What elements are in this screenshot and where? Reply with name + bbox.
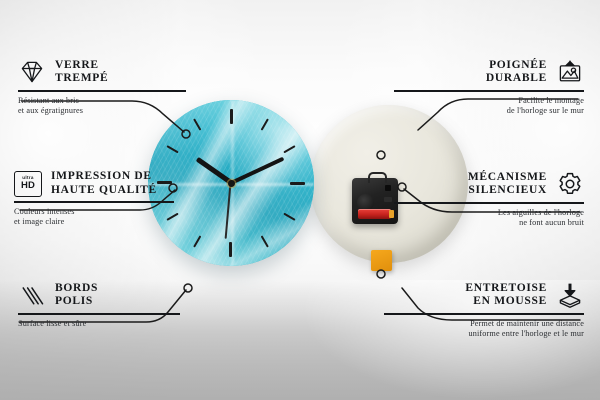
feature-header: POIGNÉE DURABLE [394, 58, 584, 86]
feature-entretoise-en-mousse[interactable]: ENTRETOISE EN MOUSSE Permet de maintenir… [374, 281, 584, 340]
feature-rule [14, 201, 174, 203]
feature-rule [394, 90, 584, 92]
feature-title: IMPRESSION DE HAUTE QUALITÉ [51, 170, 157, 197]
feature-title: BORDS POLIS [55, 282, 98, 309]
feature-rule [384, 313, 584, 315]
gear-icon [556, 170, 584, 198]
diamond-icon [18, 58, 46, 86]
feature-mecanisme-silencieux[interactable]: MÉCANISME SILENCIEUX Les aiguilles de l'… [394, 170, 584, 229]
feature-title: VERRE TREMPÉ [55, 59, 108, 86]
picture-hanger-icon [556, 58, 584, 86]
feature-title: POIGNÉE DURABLE [486, 59, 547, 86]
ultra-hd-icon: ultra HD [14, 171, 42, 197]
feature-rule [394, 202, 584, 204]
feature-header: MÉCANISME SILENCIEUX [394, 170, 584, 198]
leader-dot-poignee [377, 151, 385, 159]
foam-spacer-icon [556, 281, 584, 309]
leader-dot-verre-trempe [182, 130, 190, 138]
feature-rule [18, 90, 186, 92]
feature-verre-trempe[interactable]: VERRE TREMPÉ Résistant aux bris et aux é… [18, 58, 208, 117]
feature-header: BORDS POLIS [18, 281, 208, 309]
feature-poignee-durable[interactable]: POIGNÉE DURABLE Facilite le montage de l… [394, 58, 584, 117]
feature-header: VERRE TREMPÉ [18, 58, 208, 86]
feature-bords-polis[interactable]: BORDS POLIS Surface lisse et sûre [18, 281, 208, 329]
feature-title: ENTRETOISE EN MOUSSE [465, 282, 547, 309]
feature-title: MÉCANISME SILENCIEUX [468, 171, 547, 198]
feature-impression-haute-qualite[interactable]: ultra HD IMPRESSION DE HAUTE QUALITÉ Cou… [14, 170, 214, 228]
feature-header: ENTRETOISE EN MOUSSE [374, 281, 584, 309]
infographic-canvas: VERRE TREMPÉ Résistant aux bris et aux é… [0, 0, 600, 400]
polished-edges-icon [18, 281, 46, 309]
feature-rule [18, 313, 180, 315]
leader-dot-entretoise [377, 270, 385, 278]
feature-header: ultra HD IMPRESSION DE HAUTE QUALITÉ [14, 170, 214, 197]
